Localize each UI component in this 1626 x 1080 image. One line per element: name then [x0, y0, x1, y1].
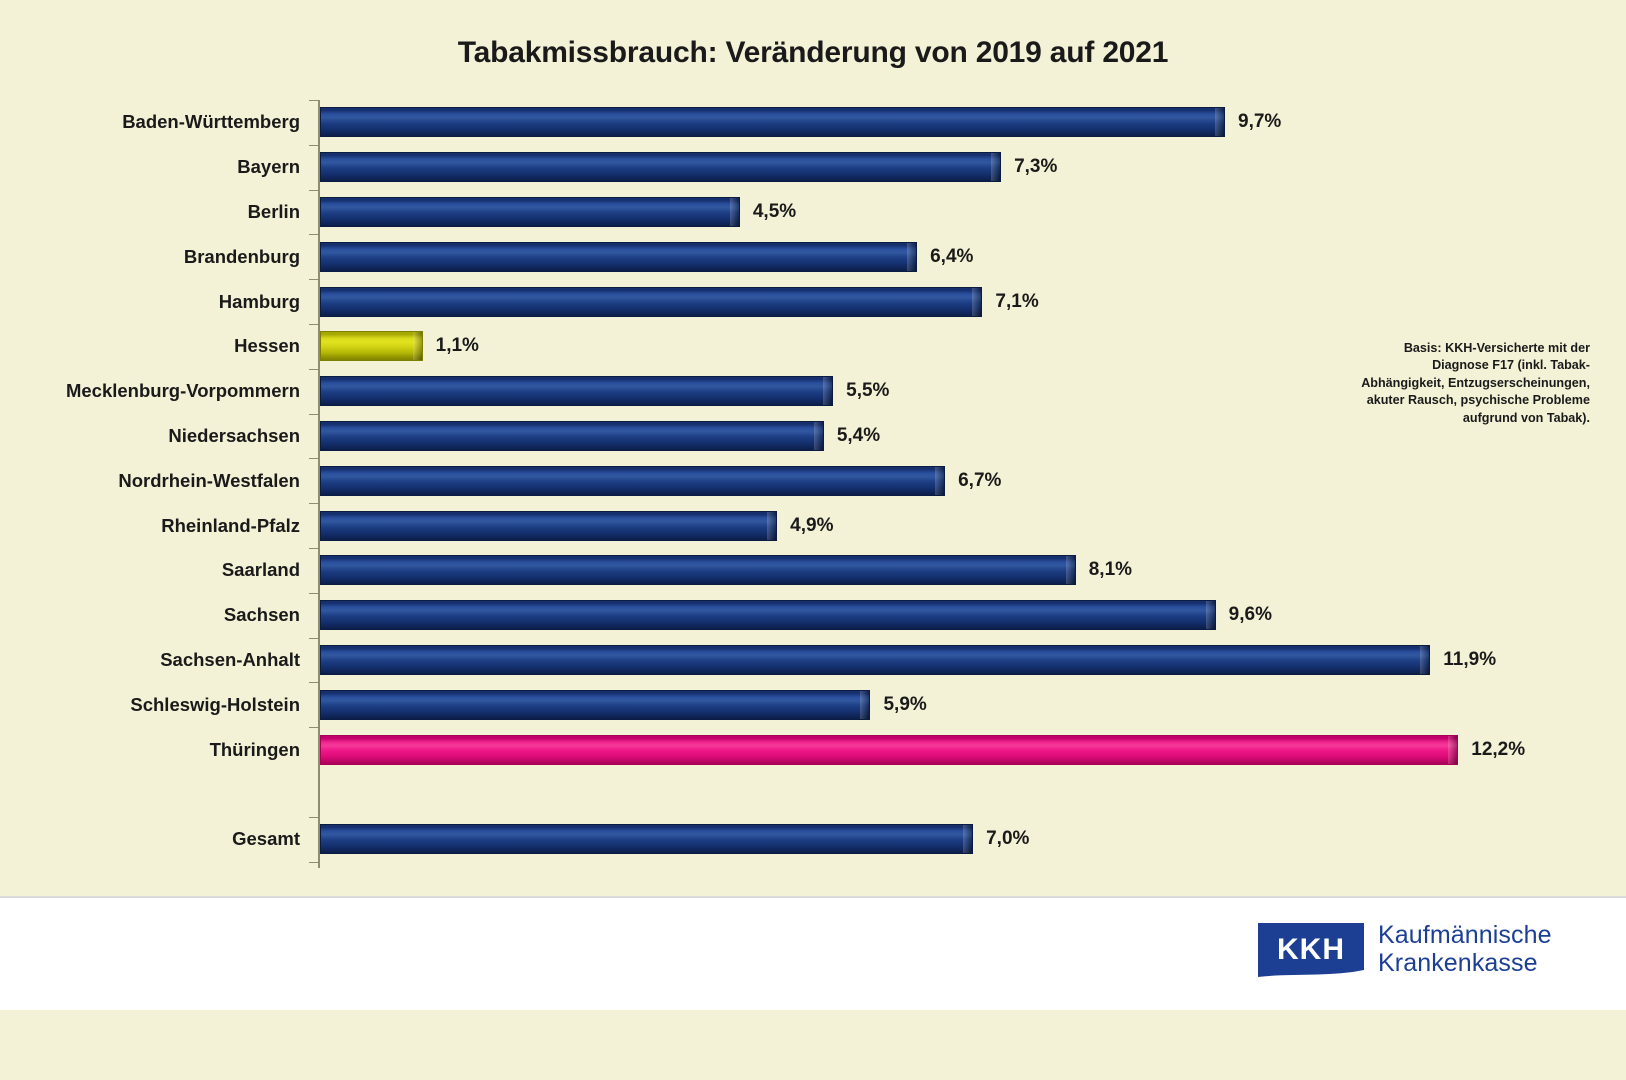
- bar-value-label: 4,5%: [753, 201, 796, 223]
- footnote-line-1: Basis: KKH-Versicherte mit der: [1290, 340, 1590, 357]
- bar[interactable]: [320, 376, 833, 406]
- bar-value-label: 11,9%: [1443, 649, 1496, 671]
- bar-value-label: 4,9%: [790, 515, 833, 537]
- category-label: Mecklenburg-Vorpommern: [0, 380, 300, 402]
- bar-row: Nordrhein-Westfalen6,7%: [0, 458, 1626, 503]
- row-spacer: [0, 772, 1626, 817]
- footnote-line-4: akuter Rausch, psychische Probleme: [1290, 392, 1590, 409]
- bar-value-label: 5,5%: [846, 380, 889, 402]
- chart-page: Tabakmissbrauch: Veränderung von 2019 au…: [0, 0, 1626, 1080]
- bar-value-label: 8,1%: [1089, 559, 1132, 581]
- bar-value-label: 7,3%: [1014, 156, 1057, 178]
- bar-container: 12,2%: [320, 735, 1525, 765]
- bar-container: 11,9%: [320, 645, 1496, 675]
- kkh-logo-name-line-2: Krankenkasse: [1378, 949, 1552, 977]
- kkh-logo-mark: KKH: [1258, 923, 1364, 977]
- footnote-line-5: aufgrund von Tabak).: [1290, 410, 1590, 427]
- bar-value-label: 7,0%: [986, 828, 1029, 850]
- category-label: Saarland: [0, 559, 300, 581]
- bar-value-label: 6,7%: [958, 470, 1001, 492]
- bar-row: Brandenburg6,4%: [0, 234, 1626, 279]
- bar-row: Sachsen9,6%: [0, 593, 1626, 638]
- bar[interactable]: [320, 331, 423, 361]
- category-label: Baden-Württemberg: [0, 111, 300, 133]
- kkh-logo-name-line-1: Kaufmännische: [1378, 921, 1552, 949]
- bar-row: Rheinland-Pfalz4,9%: [0, 503, 1626, 548]
- bar-container: 4,5%: [320, 197, 796, 227]
- bar-value-label: 6,4%: [930, 246, 973, 268]
- bar[interactable]: [320, 600, 1216, 630]
- kkh-logo: KKH Kaufmännische Krankenkasse: [1258, 921, 1552, 977]
- chart-title: Tabakmissbrauch: Veränderung von 2019 au…: [0, 36, 1626, 70]
- bar-container: 9,6%: [320, 600, 1272, 630]
- category-label: Bayern: [0, 156, 300, 178]
- category-label: Thüringen: [0, 739, 300, 761]
- axis-tick: [309, 862, 318, 863]
- footnote-line-3: Abhängigkeit, Entzugserscheinungen,: [1290, 375, 1590, 392]
- bar-container: 8,1%: [320, 555, 1132, 585]
- bar-container: 7,3%: [320, 152, 1057, 182]
- bar-container: 1,1%: [320, 331, 479, 361]
- bar-value-label: 5,9%: [883, 694, 926, 716]
- bottom-cream-strip: [0, 1010, 1626, 1080]
- bar-row: Bayern7,3%: [0, 145, 1626, 190]
- bar[interactable]: [320, 824, 973, 854]
- bar-container: 9,7%: [320, 107, 1281, 137]
- bar-container: 6,4%: [320, 242, 973, 272]
- bar-container: 5,9%: [320, 690, 927, 720]
- bar-row: Hamburg7,1%: [0, 279, 1626, 324]
- bar[interactable]: [320, 555, 1076, 585]
- bar[interactable]: [320, 197, 740, 227]
- category-label: Niedersachsen: [0, 425, 300, 447]
- bar[interactable]: [320, 242, 917, 272]
- footnote-line-2: Diagnose F17 (inkl. Tabak-: [1290, 357, 1590, 374]
- bar-value-label: 9,7%: [1238, 111, 1281, 133]
- category-label: Rheinland-Pfalz: [0, 515, 300, 537]
- bar[interactable]: [320, 421, 824, 451]
- category-label: Hamburg: [0, 291, 300, 313]
- category-label: Sachsen: [0, 604, 300, 626]
- bar[interactable]: [320, 107, 1225, 137]
- footnote: Basis: KKH-Versicherte mit der Diagnose …: [1290, 340, 1590, 427]
- category-label: Nordrhein-Westfalen: [0, 470, 300, 492]
- bar-container: 5,5%: [320, 376, 889, 406]
- bar-row: Gesamt7,0%: [0, 817, 1626, 862]
- bar-container: 5,4%: [320, 421, 880, 451]
- bar-row: Thüringen12,2%: [0, 727, 1626, 772]
- bar[interactable]: [320, 645, 1430, 675]
- bar[interactable]: [320, 152, 1001, 182]
- category-label: Gesamt: [0, 828, 300, 850]
- category-label: Brandenburg: [0, 246, 300, 268]
- bar-value-label: 12,2%: [1471, 739, 1525, 761]
- bar-row: Saarland8,1%: [0, 548, 1626, 593]
- category-label: Berlin: [0, 201, 300, 223]
- bar[interactable]: [320, 511, 777, 541]
- category-label: Schleswig-Holstein: [0, 694, 300, 716]
- bar-container: 6,7%: [320, 466, 1001, 496]
- bar-container: 7,0%: [320, 824, 1029, 854]
- bar[interactable]: [320, 690, 870, 720]
- bar-value-label: 1,1%: [436, 335, 479, 357]
- bar-rows: Baden-Württemberg9,7%Bayern7,3%Berlin4,5…: [0, 100, 1626, 862]
- kkh-logo-name: Kaufmännische Krankenkasse: [1378, 921, 1552, 977]
- bar-row: Schleswig-Holstein5,9%: [0, 682, 1626, 727]
- bar-value-label: 5,4%: [837, 425, 880, 447]
- bar[interactable]: [320, 287, 982, 317]
- bar-container: 7,1%: [320, 287, 1039, 317]
- bar-container: 4,9%: [320, 511, 833, 541]
- bar-row: Berlin4,5%: [0, 190, 1626, 235]
- bar[interactable]: [320, 466, 945, 496]
- bar-row: Baden-Württemberg9,7%: [0, 100, 1626, 145]
- category-label: Hessen: [0, 335, 300, 357]
- bar-value-label: 9,6%: [1229, 604, 1272, 626]
- bar-row: Sachsen-Anhalt11,9%: [0, 638, 1626, 683]
- bar[interactable]: [320, 735, 1458, 765]
- bar-value-label: 7,1%: [995, 291, 1038, 313]
- svg-text:KKH: KKH: [1277, 933, 1345, 966]
- category-label: Sachsen-Anhalt: [0, 649, 300, 671]
